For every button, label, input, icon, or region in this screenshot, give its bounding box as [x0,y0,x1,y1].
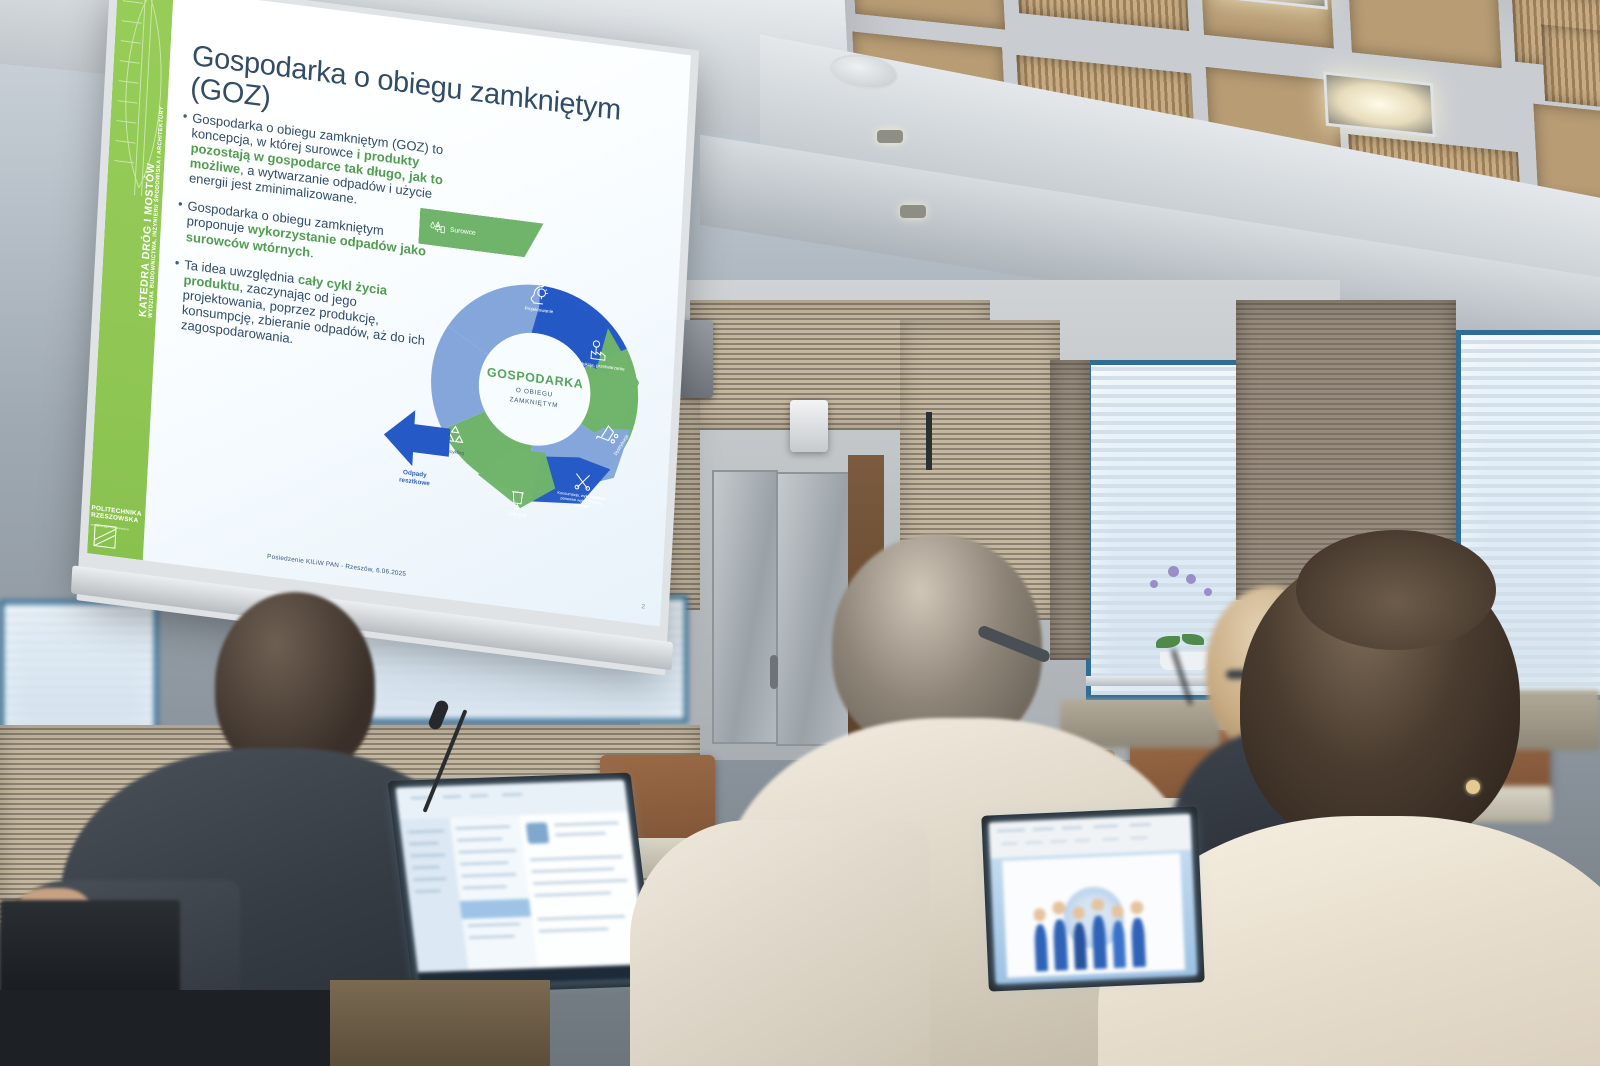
hub-subtitle: O OBIEGUZAMKNIĘTYM [509,385,559,410]
window-far-left [0,600,158,738]
waste-bin-recycle-icon [506,486,529,511]
bullet-text: Ta idea uwzględnia cały cykl życia produ… [181,257,442,365]
university-logo [93,524,138,552]
door-left-panel [712,470,778,744]
factory-tree-icon [588,338,611,363]
hair-bun [1296,530,1496,650]
door-handle[interactable] [770,655,778,689]
avatar [526,822,549,843]
wall-speaker-icon [790,400,828,452]
laptop-right-screen [989,814,1198,985]
bridge-graphic-icon [109,0,174,199]
orchid-flower [1150,580,1158,588]
window-shade-edge[interactable] [1050,360,1090,660]
bullet-marker: • [171,255,180,331]
ceiling-spotlight [900,205,926,218]
bullet-marker: • [179,109,188,185]
slide-bullet-list: • Gospodarka o obiegu zamkniętym (GOZ) t… [171,109,450,378]
earring [1466,780,1480,794]
lightbulb-head-icon [528,282,551,307]
slide-page-number: 2 [641,603,645,610]
list-item: • Ta idea uwzględnia cały cykl życia pro… [171,255,442,364]
segment-konsumpcja: Konsumpcja, wykorzystanie, ponowne wykor… [552,468,612,512]
orchid-flower [1186,574,1196,584]
orchid-flower [1168,566,1179,577]
fork-knife-tools-icon [572,471,593,494]
shoulder [630,820,930,1066]
bullet-marker: • [176,197,183,243]
projection-screen: KATEDRA DRÓG I MOSTÓW WYDZIAŁ BUDOWNICTW… [85,0,691,664]
circular-economy-diagram: Surowce [408,212,661,572]
ceiling-spotlight [877,130,903,143]
desk-edge [330,980,550,1066]
conference-room-scene: KATEDRA DRÓG I MOSTÓW WYDZIAŁ BUDOWNICTW… [0,0,1600,1066]
laptop-left-screen [395,780,648,986]
plant-pot [1160,652,1208,670]
wall-mounted-rod [926,412,932,470]
orchid-flower [1204,588,1212,596]
university-logo-icon [93,524,116,549]
presentation-slide: KATEDRA DRÓG I MOSTÓW WYDZIAŁ BUDOWNICTW… [87,0,691,627]
chair-foreground [0,990,330,1066]
wall-bracket [679,320,713,398]
slide-footer: Posiedzenie KILiW PAN - Rzeszów, 6.06.20… [267,553,406,578]
